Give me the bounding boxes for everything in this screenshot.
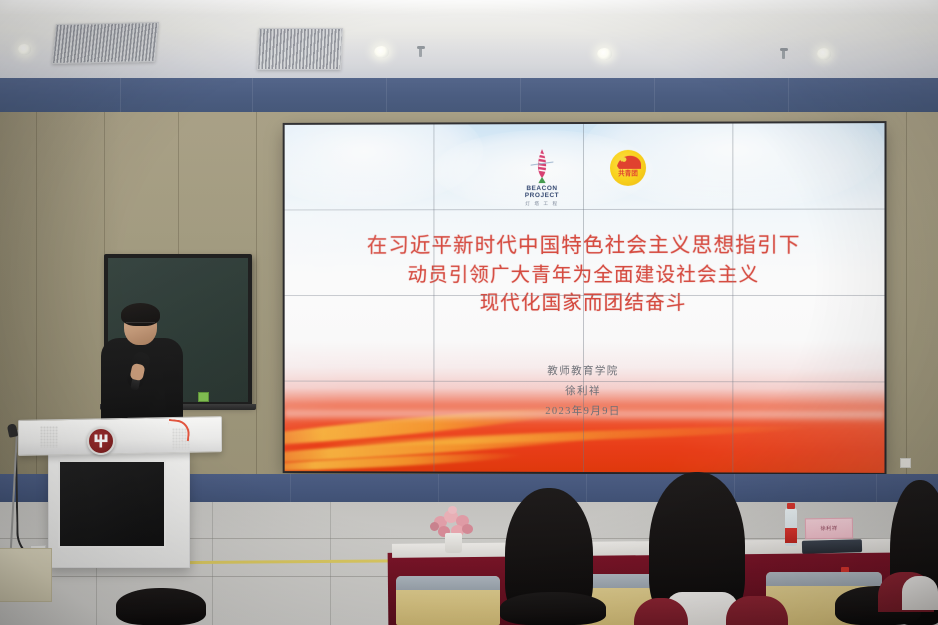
presenter-glasses [126, 322, 155, 328]
audience-shoulder-white-2 [902, 576, 938, 610]
podium-speaker-grille-left [40, 426, 58, 448]
bottle-label [785, 528, 797, 543]
audience-shoulder-red-2 [726, 596, 788, 625]
flower-vase [445, 533, 462, 553]
upper-wall-band [0, 78, 938, 116]
led-video-wall[interactable]: BEACON PROJECT 灯 塔 工 程 共青团 在习近平新时代中国特色社会… [285, 123, 885, 473]
downlight-1 [18, 44, 31, 55]
downlight-2 [374, 46, 389, 58]
air-vent-right-icon [257, 28, 343, 70]
wall-outlet [900, 458, 911, 468]
lecture-hall-photo: BEACON PROJECT 灯 塔 工 程 共青团 在习近平新时代中国特色社会… [0, 0, 938, 625]
bottle-cap [787, 503, 795, 509]
podium-display[interactable] [58, 460, 166, 548]
audience-head-5 [500, 592, 606, 625]
sprinkler-1 [419, 48, 422, 57]
screen-glare [285, 123, 885, 473]
name-card-text: 徐利祥 [820, 525, 837, 532]
seat-cushion [396, 576, 500, 590]
sprinkler-2 [782, 50, 785, 59]
name-card: 徐利祥 [805, 518, 853, 540]
downlight-4 [817, 48, 831, 60]
water-bottle-3 [785, 508, 797, 546]
audience-head-4 [116, 588, 206, 625]
side-cabinet [0, 548, 52, 602]
university-crest-icon [87, 427, 115, 455]
seat-cushion [766, 572, 882, 586]
air-vent-left-icon [52, 22, 159, 64]
laptop[interactable] [802, 539, 862, 554]
downlight-3 [597, 48, 612, 60]
chalkboard-marker-tag [198, 392, 209, 402]
seat-1 [396, 576, 500, 625]
